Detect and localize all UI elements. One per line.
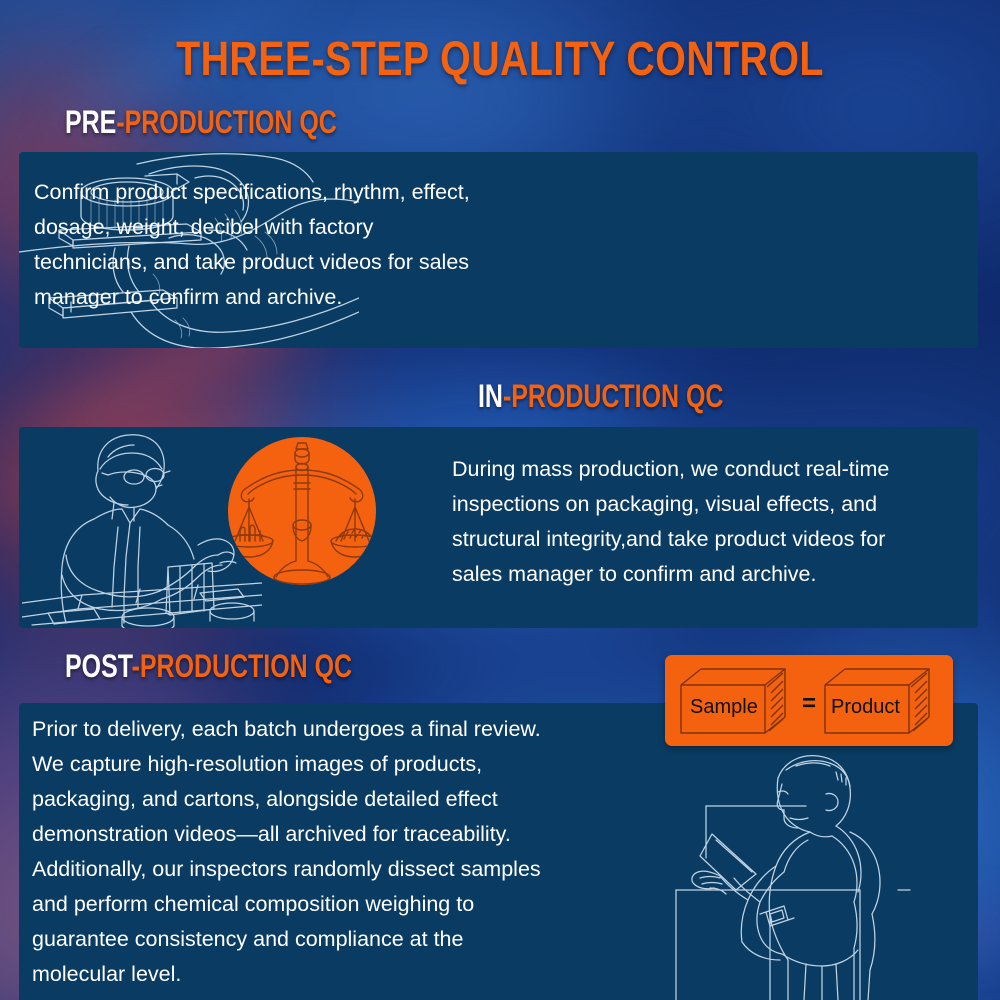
panel-in-production: During mass production, we conduct real-…	[19, 427, 978, 628]
heading-post-production-suffix: -PRODUCTION QC	[132, 648, 352, 684]
heading-pre-production: PRE-PRODUCTION QC	[65, 104, 337, 140]
sample-label: Sample	[690, 696, 758, 718]
heading-pre-production-suffix: -PRODUCTION QC	[116, 104, 336, 140]
technician-inspecting-icon	[22, 427, 262, 628]
heading-post-production: POST-PRODUCTION QC	[65, 648, 352, 684]
heading-pre-production-prefix: PRE	[65, 104, 116, 140]
sample-equals-product-badge: Sample = Product	[665, 655, 953, 746]
body-text-in-production: During mass production, we conduct real-…	[452, 452, 978, 592]
body-text-pre-production: Confirm product specifications, rhythm, …	[34, 175, 594, 315]
product-label: Product	[831, 696, 900, 718]
body-text-post-production: Prior to delivery, each batch undergoes …	[32, 712, 657, 992]
heading-in-production-prefix: IN	[478, 378, 503, 414]
panel-post-production: Prior to delivery, each batch undergoes …	[19, 703, 978, 1000]
panel-pre-production: Confirm product specifications, rhythm, …	[19, 152, 978, 348]
heading-in-production-suffix: -PRODUCTION QC	[503, 378, 723, 414]
equals-sign: =	[802, 693, 816, 715]
balance-scale-badge	[228, 437, 376, 585]
page-title: THREE-STEP QUALITY CONTROL	[90, 32, 910, 88]
infographic-poster: THREE-STEP QUALITY CONTROL PRE-PRODUCTIO…	[0, 0, 1000, 1000]
heading-in-production: IN-PRODUCTION QC	[478, 378, 723, 414]
heading-post-production-prefix: POST	[65, 648, 132, 684]
inspector-reviewing-tablet-icon	[660, 748, 978, 1000]
